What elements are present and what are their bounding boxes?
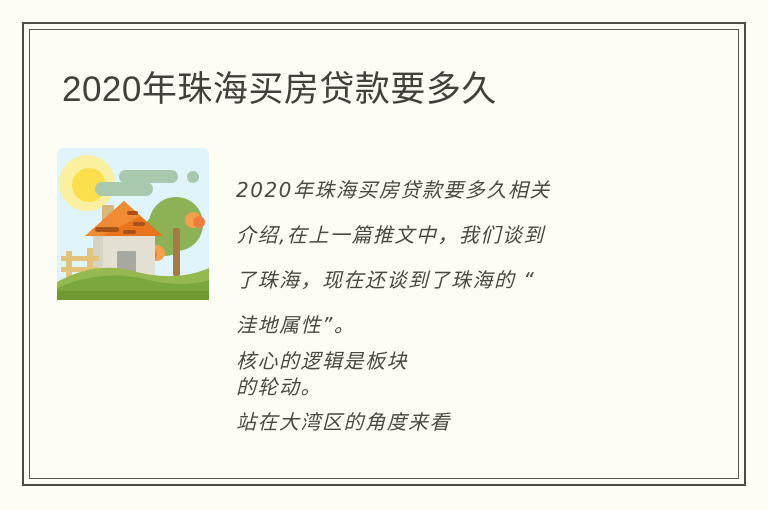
countryside-house-illustration — [57, 148, 209, 300]
body-line: 了珠海，现在还谈到了珠海的 “ — [236, 258, 666, 303]
cloud-icon-upper — [119, 170, 178, 183]
tree-trunk — [173, 228, 180, 276]
body-line: 核心的逻辑是板块 — [236, 348, 666, 374]
fence-post-left — [66, 251, 72, 277]
roof-shingle-2 — [133, 222, 145, 226]
tree-fruit-icon-2 — [193, 216, 205, 228]
cloud-icon-lower — [95, 182, 153, 196]
roof-shingle-4 — [95, 227, 119, 232]
body-line: 介绍,在上一篇推文中，我们谈到 — [236, 213, 666, 258]
ground-strip — [57, 291, 209, 300]
article-body: 2020年珠海买房贷款要多久相关 介绍,在上一篇推文中，我们谈到 了珠海，现在还… — [236, 168, 666, 445]
fence-rail-top — [61, 256, 99, 261]
article-card-page: 2020年珠海买房贷款要多久 — [0, 0, 768, 510]
body-line: 的轮动。 — [236, 374, 666, 400]
body-line: 站在大湾区的角度来看 — [236, 400, 666, 445]
roof-shingle-1 — [127, 211, 138, 215]
roof-shingle-3 — [123, 230, 136, 234]
body-line: 2020年珠海买房贷款要多久相关 — [236, 168, 666, 213]
cloud-dot-icon — [187, 171, 199, 183]
body-line: 洼地属性”。 — [236, 303, 666, 348]
page-title: 2020年珠海买房贷款要多久 — [62, 68, 497, 112]
